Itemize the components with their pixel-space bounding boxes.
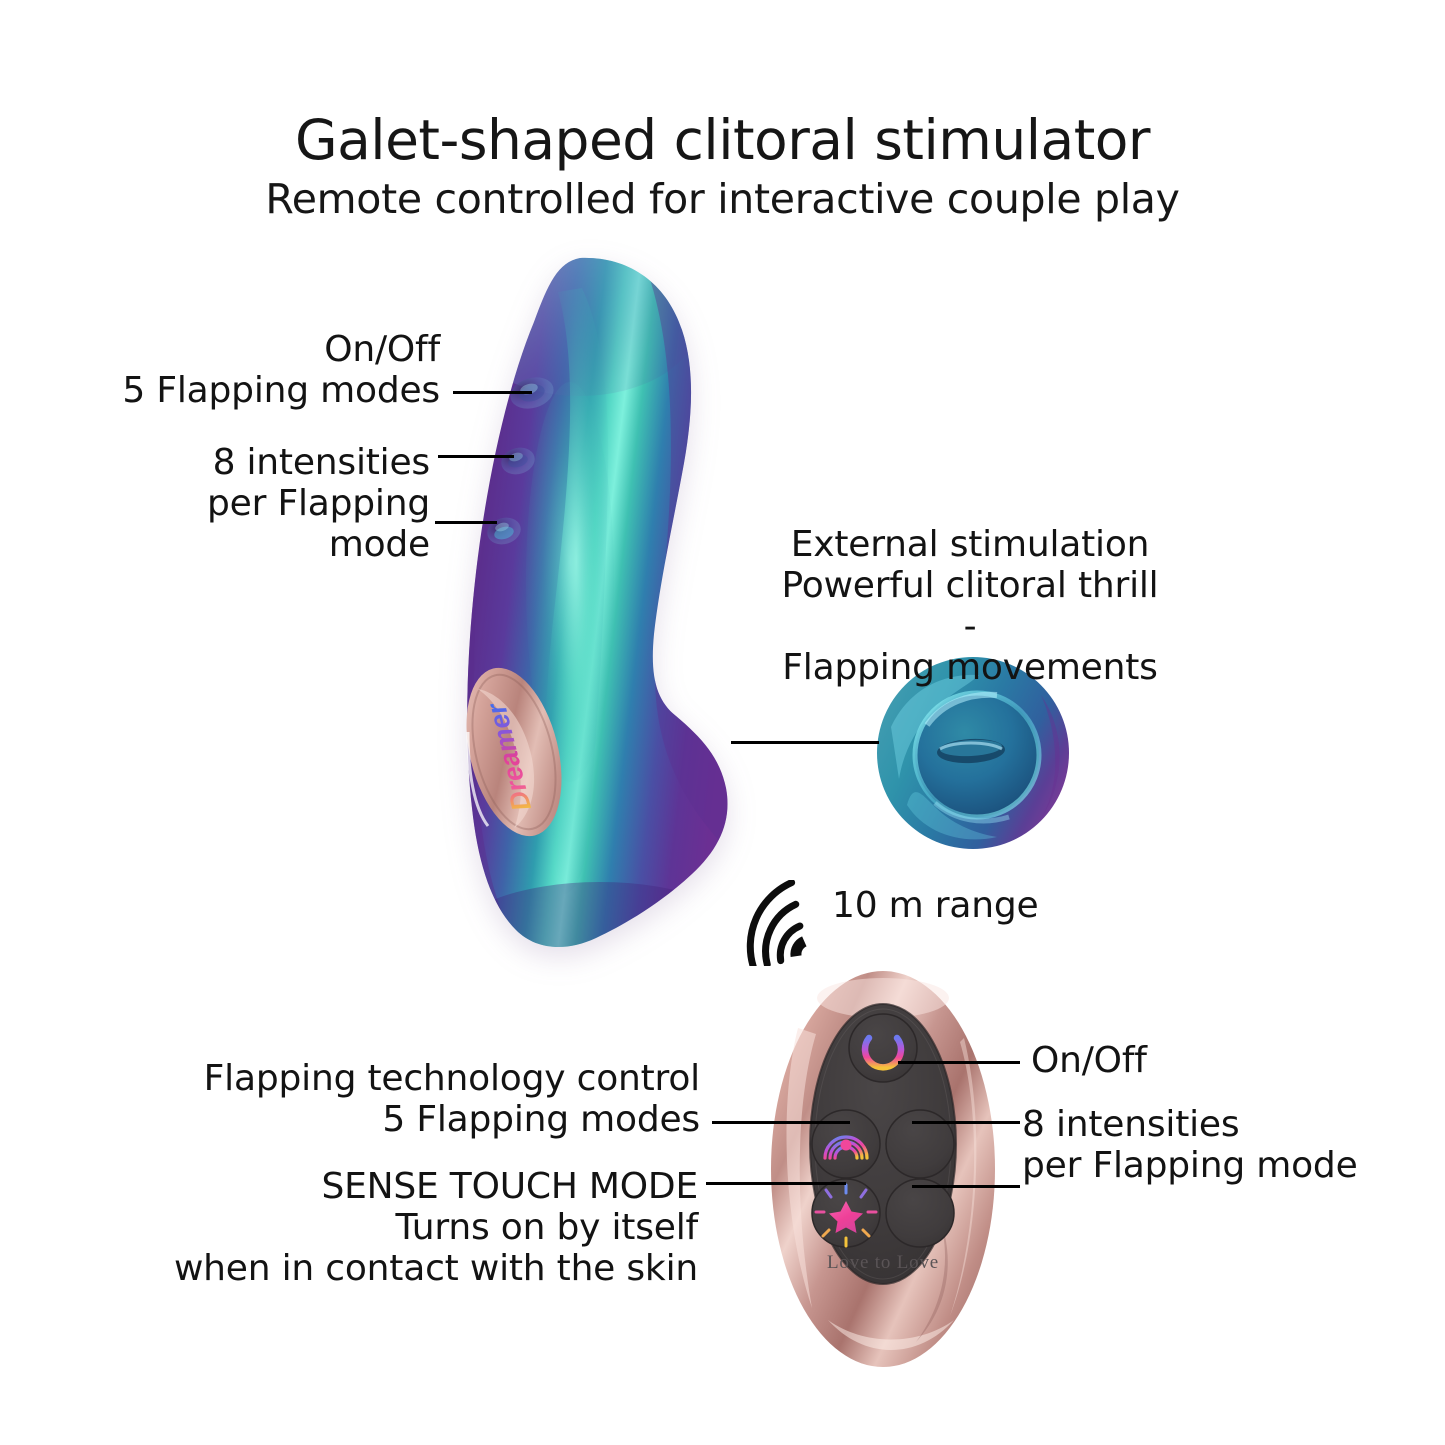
page-title: Galet-shaped clitoral stimulator (0, 112, 1445, 168)
annotation-remote-onoff: On/Off (1031, 1040, 1361, 1081)
annotation-remote-intensities: 8 intensities per Flapping mode (1022, 1104, 1422, 1186)
annotation-head: External stimulation Powerful clitoral t… (770, 524, 1170, 688)
annotation-remote-modes: Flapping technology control 5 Flapping m… (190, 1058, 700, 1140)
leader-line-remote-onoff (898, 1061, 1020, 1064)
wifi-icon (735, 880, 825, 966)
leader-line-remote-modes (712, 1121, 850, 1124)
remote-illustration: Love to Love (768, 968, 998, 1370)
leader-line-device-intensity-2 (435, 521, 497, 524)
annotation-range: 10 m range (832, 885, 1132, 926)
device-illustration: Dreamer (430, 252, 770, 952)
infographic-canvas: Galet-shaped clitoral stimulator Remote … (0, 0, 1445, 1445)
leader-line-remote-plus (912, 1121, 1020, 1124)
page-subtitle: Remote controlled for interactive couple… (0, 178, 1445, 221)
leader-line-head (731, 741, 879, 744)
main-device: Dreamer (430, 252, 770, 952)
remote-button-sense-touch[interactable] (812, 1179, 880, 1247)
annotation-remote-sense-touch: SENSE TOUCH MODE Turns on by itself when… (150, 1166, 698, 1289)
remote-brand-text: Love to Love (827, 1252, 939, 1273)
remote-control: Love to Love (768, 968, 998, 1370)
remote-button-power[interactable] (849, 1014, 917, 1082)
annotation-device-onoff: On/Off 5 Flapping modes (110, 329, 440, 411)
wireless-range-group (735, 880, 825, 966)
leader-line-remote-sense (706, 1182, 846, 1185)
leader-line-remote-minus (912, 1185, 1020, 1188)
annotation-device-intensities: 8 intensities per Flapping mode (100, 442, 430, 565)
remote-button-minus[interactable] (886, 1179, 954, 1247)
leader-line-device-onoff (453, 391, 532, 394)
leader-line-device-intensity (438, 455, 514, 458)
